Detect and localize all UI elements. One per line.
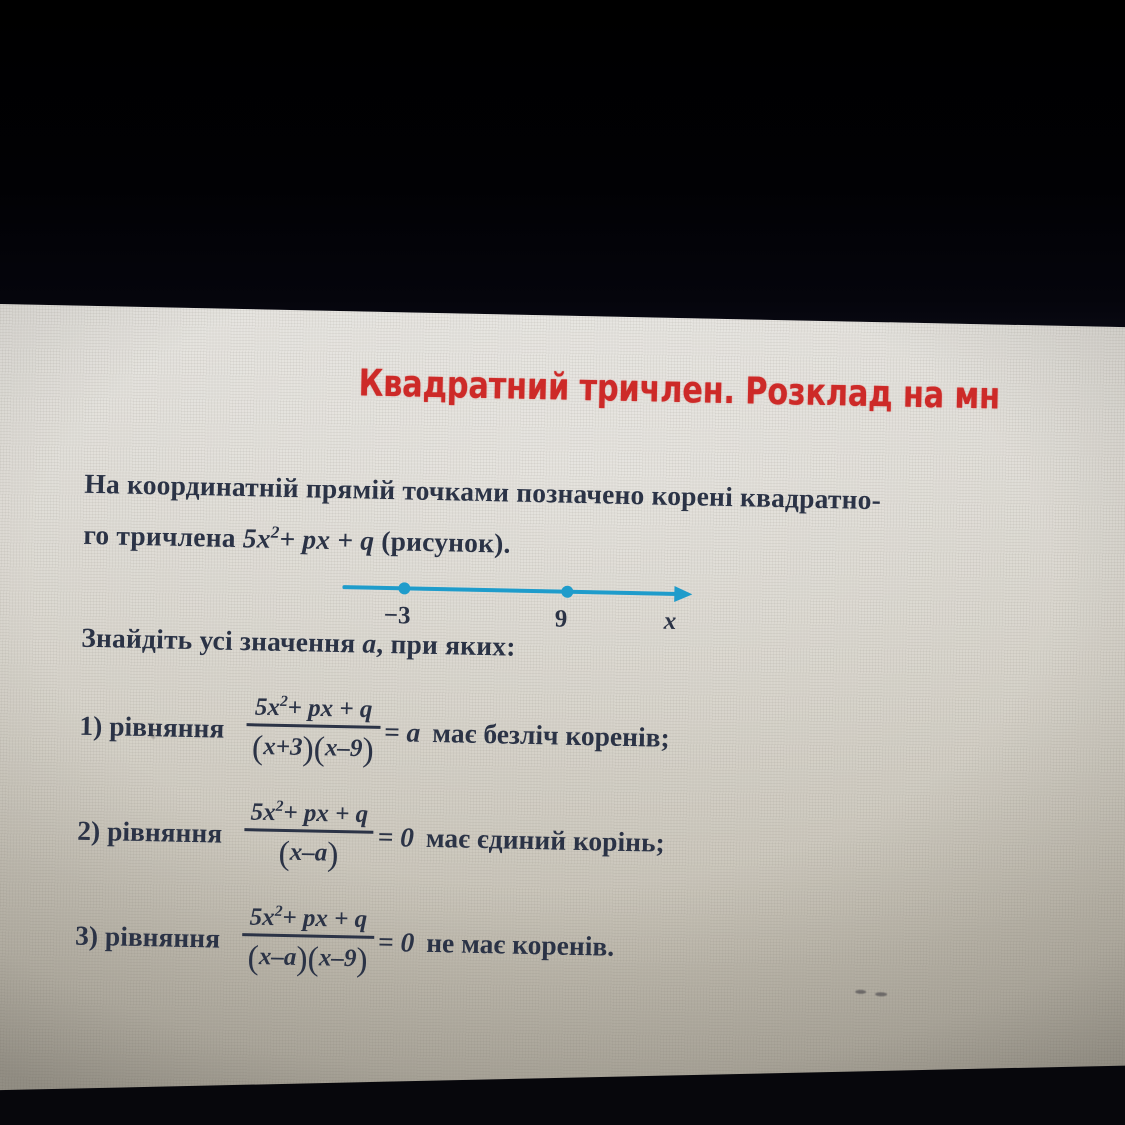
item-3-den-p2-close: ) xyxy=(356,941,368,978)
item-1-num-rest: + px + q xyxy=(287,694,372,723)
item-2-den-p1-close: ) xyxy=(327,836,339,873)
item-3-tail: не має коренів. xyxy=(414,927,615,963)
find-values-variable: a xyxy=(362,628,377,659)
item-1-relation: = a xyxy=(384,716,421,749)
item-3-relation: = 0 xyxy=(378,926,415,959)
equation-item-3: 3) рівняння 5x2+ px + q (x–a)(x–9) = 0 н… xyxy=(74,899,615,985)
item-3-lead-word: рівняння xyxy=(105,921,221,954)
item-2-numerator: 5x2+ px + q xyxy=(244,797,374,831)
number-line-label-root1: −3 xyxy=(384,602,411,631)
item-1-den-p2-open: ( xyxy=(313,730,325,767)
find-values-suffix: , при яких: xyxy=(376,628,516,662)
photographed-textbook-page: Квадратний тричлен. Розклад на мн На коо… xyxy=(0,0,1125,1125)
number-line-axis-label: x xyxy=(663,608,676,636)
section-title: Квадратний тричлен. Розклад на мн xyxy=(358,361,1000,417)
item-1-denominator: (x+3)(x–9) xyxy=(246,726,381,770)
item-1-numerator: 5x2+ px + q xyxy=(249,692,379,726)
item-2-index: 2) xyxy=(77,815,101,846)
item-2-den-p1-open: ( xyxy=(278,835,290,872)
item-3-den-p1-open: ( xyxy=(247,939,259,976)
item-3-den-p2-open: ( xyxy=(307,940,319,977)
number-line-point-root2 xyxy=(561,586,573,598)
number-line-arrowhead-icon xyxy=(674,586,692,602)
number-line-point-root1 xyxy=(398,582,410,594)
equation-item-2: 2) рівняння 5x2+ px + q (x–a) = 0 має єд… xyxy=(77,794,666,881)
item-2-lead-word: рівняння xyxy=(107,816,223,849)
number-line-axis xyxy=(342,585,680,596)
item-3-num-rest: + px + q xyxy=(282,904,367,933)
item-1-lead: 1) рівняння xyxy=(79,710,242,745)
page-content: Квадратний тричлен. Розклад на мн На коо… xyxy=(0,304,1125,1125)
statement-line-2-suffix: (рисунок). xyxy=(374,525,511,559)
item-2-relation: = 0 xyxy=(377,821,414,854)
equation-item-1: 1) рівняння 5x2+ px + q (x+3)(x–9) = a м… xyxy=(79,689,671,776)
item-3-fraction: 5x2+ px + q (x–a)(x–9) xyxy=(237,902,379,979)
item-1-den-p2-body: x–9 xyxy=(325,734,363,762)
item-3-num-base: 5x xyxy=(249,904,275,932)
dark-background-band-top xyxy=(0,0,1125,340)
item-2-num-base: 5x xyxy=(250,799,276,827)
item-1-den-p2-close: ) xyxy=(362,731,374,768)
trinomial-base: 5x xyxy=(243,522,272,554)
item-2-num-rest: + px + q xyxy=(283,799,368,828)
item-2-fraction: 5x2+ px + q (x–a) xyxy=(239,797,378,874)
item-2-tail: має єдиний корінь; xyxy=(414,822,665,859)
find-values-prefix: Знайдіть усі значення xyxy=(81,622,363,659)
item-1-den-p1-open: ( xyxy=(252,729,264,766)
item-1-num-base: 5x xyxy=(255,694,281,722)
item-3-index: 3) xyxy=(75,920,99,951)
item-1-den-p1-close: ) xyxy=(302,730,314,767)
item-3-den-p1-close: ) xyxy=(296,940,308,977)
page-sheet: Квадратний тричлен. Розклад на мн На коо… xyxy=(0,303,1125,1125)
item-1-tail: має безліч коренів; xyxy=(420,717,670,754)
item-3-den-p2-body: x–9 xyxy=(319,944,357,972)
statement-line-2-prefix: го тричлена xyxy=(83,519,243,553)
item-1-index: 1) xyxy=(79,710,103,741)
item-2-lead: 2) рівняння xyxy=(77,815,240,850)
item-1-lead-word: рівняння xyxy=(109,711,225,744)
number-line-label-root2: 9 xyxy=(554,605,567,633)
problem-statement: На координатній прямій точками позначено… xyxy=(83,461,1045,577)
item-2-den-p1-body: x–a xyxy=(290,839,328,867)
item-1-fraction: 5x2+ px + q (x+3)(x–9) xyxy=(242,692,385,770)
page-smudge xyxy=(855,990,866,994)
item-3-denominator: (x–a)(x–9) xyxy=(241,936,374,980)
item-3-numerator: 5x2+ px + q xyxy=(243,902,373,936)
item-3-lead: 3) рівняння xyxy=(75,920,238,955)
item-1-den-p1-body: x+3 xyxy=(263,733,303,761)
page-smudge xyxy=(875,992,887,996)
item-2-denominator: (x–a) xyxy=(272,832,345,874)
statement-line-2: го тричлена 5x2+ px + q (рисунок). xyxy=(83,506,1044,577)
trinomial-rest: + px + q xyxy=(279,523,374,556)
item-3-den-p1-body: x–a xyxy=(259,943,297,971)
